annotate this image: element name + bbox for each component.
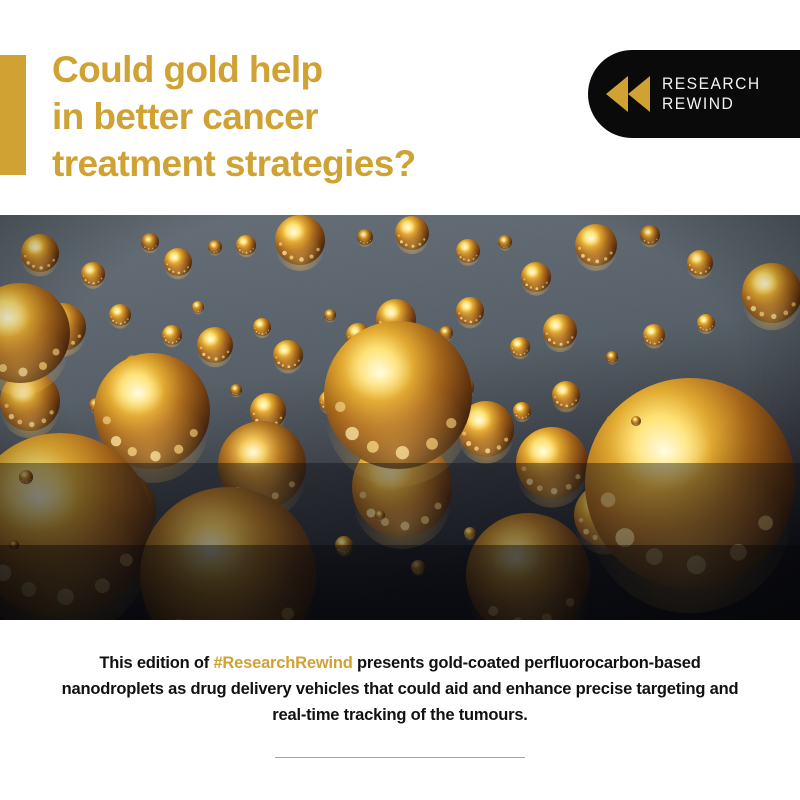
footer-divider	[275, 757, 525, 758]
accent-bar	[0, 55, 26, 175]
nanodroplet-illustration	[0, 215, 800, 620]
rewind-icon	[604, 74, 652, 114]
research-rewind-badge[interactable]: RESEARCH REWIND	[588, 50, 800, 138]
hero-image	[0, 215, 800, 620]
logo-text: RESEARCH REWIND	[662, 74, 761, 114]
header-section: Could gold help in better cancer treatme…	[0, 0, 800, 215]
poster-canvas: Could gold help in better cancer treatme…	[0, 0, 800, 800]
hashtag-research-rewind[interactable]: #ResearchRewind	[213, 654, 352, 672]
page-title: Could gold help in better cancer treatme…	[52, 46, 572, 187]
caption-before-tag: This edition of	[99, 654, 213, 672]
caption-text: This edition of #ResearchRewind presents…	[50, 650, 750, 728]
